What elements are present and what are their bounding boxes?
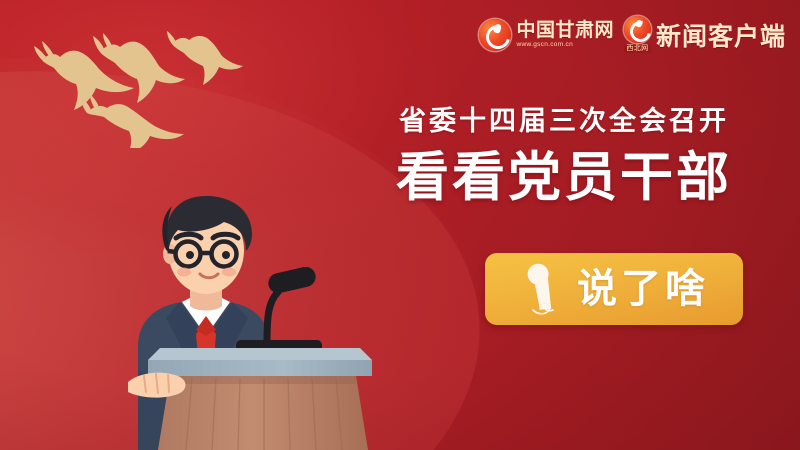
microphone-icon — [519, 261, 565, 317]
dove-icon — [81, 94, 184, 148]
logo-news-label: 新闻客户端 — [656, 17, 786, 53]
logo-gansu-url: www.gscn.com.cn — [516, 42, 614, 49]
headline-block: 省委十四届三次全会召开 看看党员干部 — [364, 108, 764, 204]
logo-bar: 中国甘肃网 www.gscn.com.cn 西北网 新闻客户端 — [479, 16, 786, 53]
dove-icon — [93, 33, 185, 103]
logo-news-client[interactable]: 西北网 新闻客户端 — [624, 16, 786, 53]
doves-decoration — [22, 18, 252, 148]
flame-circle-logo-icon — [624, 16, 651, 43]
flame-circle-logo-icon — [479, 19, 511, 51]
page-title: 看看党员干部 — [364, 151, 764, 204]
say-what-label: 说了啥 — [577, 269, 709, 309]
podium — [148, 348, 372, 450]
logo-gansu-label: 中国甘肃网 — [516, 21, 614, 40]
banner-image: 中国甘肃网 www.gscn.com.cn 西北网 新闻客户端 省委十四届三次全… — [0, 0, 800, 450]
speaker-illustration — [20, 150, 380, 450]
say-what-button[interactable]: 说了啥 — [485, 253, 743, 325]
speaker-hand — [128, 373, 186, 398]
eyebrow-text: 省委十四届三次全会召开 — [364, 108, 764, 135]
logo-xibei-badge: 西北网 — [624, 44, 650, 53]
logo-gansu-net[interactable]: 中国甘肃网 www.gscn.com.cn — [479, 19, 614, 51]
speaker-head — [162, 196, 252, 294]
dove-icon — [167, 31, 243, 85]
